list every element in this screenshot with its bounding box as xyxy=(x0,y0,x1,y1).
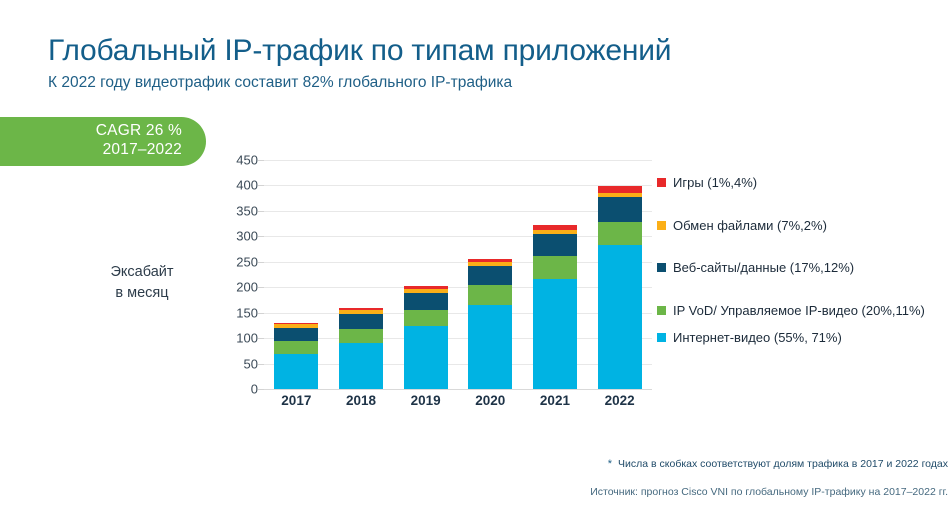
x-axis-tick-2018: 2018 xyxy=(339,393,383,408)
x-axis-tick-2017: 2017 xyxy=(274,393,318,408)
x-axis-tick-labels: 201720182019202020212022 xyxy=(264,393,652,408)
bar-group-2021[interactable] xyxy=(533,160,577,389)
y-axis-tick-250: 250 xyxy=(236,254,258,269)
x-axis-tick-2022: 2022 xyxy=(598,393,642,408)
page-subtitle: К 2022 году видеотрафик составит 82% гло… xyxy=(48,74,908,93)
y-axis-tick-300: 300 xyxy=(236,229,258,244)
bar-segment-2021-IP VoD/ Управляемое IP-видео[interactable] xyxy=(533,256,577,279)
legend-label-2: Веб-сайты/данные (17%,12%) xyxy=(673,259,854,277)
footnote-asterisk: * xyxy=(608,458,612,471)
bar-segment-2020-Веб-сайты/данные[interactable] xyxy=(468,266,512,284)
plot-area xyxy=(264,160,652,389)
legend-item-1[interactable]: Обмен файлами (7%,2%) xyxy=(657,217,947,235)
bar-segment-2021-Веб-сайты/данные[interactable] xyxy=(533,234,577,255)
x-axis-tick-2019: 2019 xyxy=(404,393,448,408)
y-axis-tick-450: 450 xyxy=(236,153,258,168)
legend-swatch-icon-1 xyxy=(657,221,666,230)
legend-swatch-icon-2 xyxy=(657,263,666,272)
bar-segment-2019-Интернет-видео[interactable] xyxy=(404,326,448,389)
bar-group-2022[interactable] xyxy=(598,160,642,389)
bar-segment-2022-IP VoD/ Управляемое IP-видео[interactable] xyxy=(598,222,642,245)
y-axis-tick-100: 100 xyxy=(236,331,258,346)
y-axis-tick-350: 350 xyxy=(236,203,258,218)
bar-series-container xyxy=(264,160,652,389)
legend-swatch-icon-4 xyxy=(657,333,666,342)
legend-item-0[interactable]: Игры (1%,4%) xyxy=(657,174,947,192)
legend-item-2[interactable]: Веб-сайты/данные (17%,12%) xyxy=(657,259,947,277)
cagr-rate-label: CAGR 26 % xyxy=(0,122,182,141)
x-axis-tick-2021: 2021 xyxy=(533,393,577,408)
y-axis-title-line1: Эксабайт xyxy=(78,262,206,283)
y-axis-tick-50: 50 xyxy=(244,356,258,371)
bar-group-2017[interactable] xyxy=(274,160,318,389)
bar-segment-2018-Интернет-видео[interactable] xyxy=(339,343,383,389)
bar-segment-2020-Интернет-видео[interactable] xyxy=(468,305,512,389)
bar-group-2020[interactable] xyxy=(468,160,512,389)
footnote-text: Числа в скобках соответствуют долям траф… xyxy=(618,458,948,472)
page-title: Глобальный IP-трафик по типам приложений xyxy=(48,34,908,68)
bar-segment-2017-Веб-сайты/данные[interactable] xyxy=(274,328,318,341)
bar-segment-2022-Интернет-видео[interactable] xyxy=(598,245,642,389)
bar-segment-2022-Веб-сайты/данные[interactable] xyxy=(598,197,642,221)
tickmark-0 xyxy=(258,389,264,390)
slide-header: Глобальный IP-трафик по типам приложений… xyxy=(48,34,908,92)
legend-swatch-icon-3 xyxy=(657,306,666,315)
legend-item-4[interactable]: Интернет-видео (55%, 71%) xyxy=(657,329,947,347)
legend-swatch-icon-0 xyxy=(657,178,666,187)
chart-legend: Игры (1%,4%)Обмен файлами (7%,2%)Веб-сай… xyxy=(657,174,947,372)
cagr-badge: CAGR 26 % 2017–2022 xyxy=(0,117,206,166)
legend-label-1: Обмен файлами (7%,2%) xyxy=(673,217,827,235)
legend-label-4: Интернет-видео (55%, 71%) xyxy=(673,329,842,347)
y-axis-tick-400: 400 xyxy=(236,178,258,193)
source-text: Источник: прогноз Cisco VNI по глобально… xyxy=(576,486,948,500)
bar-segment-2019-Веб-сайты/данные[interactable] xyxy=(404,293,448,310)
cagr-period-label: 2017–2022 xyxy=(0,141,182,160)
legend-label-3: IP VoD/ Управляемое IP-видео (20%,11%) xyxy=(673,302,925,320)
y-axis-title: Эксабайт в месяц xyxy=(78,262,206,304)
bar-segment-2017-IP VoD/ Управляемое IP-видео[interactable] xyxy=(274,341,318,354)
footnote-row: * Числа в скобках соответствуют долям тр… xyxy=(576,458,948,472)
bar-segment-2017-Интернет-видео[interactable] xyxy=(274,354,318,389)
legend-item-3[interactable]: IP VoD/ Управляемое IP-видео (20%,11%) xyxy=(657,302,947,320)
bar-segment-2018-Веб-сайты/данные[interactable] xyxy=(339,314,383,329)
legend-label-0: Игры (1%,4%) xyxy=(673,174,757,192)
y-axis-tick-0: 0 xyxy=(251,382,258,397)
bar-segment-2022-Игры[interactable] xyxy=(598,186,642,193)
bar-group-2018[interactable] xyxy=(339,160,383,389)
y-axis-title-line2: в месяц xyxy=(78,283,206,304)
stacked-bar-chart: 450400350300250200150100500 201720182019… xyxy=(212,160,652,422)
y-axis-tick-200: 200 xyxy=(236,280,258,295)
bar-segment-2021-Интернет-видео[interactable] xyxy=(533,279,577,389)
gridline-0 xyxy=(264,389,652,390)
bar-segment-2020-IP VoD/ Управляемое IP-видео[interactable] xyxy=(468,285,512,305)
footnotes: * Числа в скобках соответствуют долям тр… xyxy=(576,458,948,499)
y-axis-tick-150: 150 xyxy=(236,305,258,320)
y-axis-tick-labels: 450400350300250200150100500 xyxy=(212,160,258,389)
bar-segment-2019-IP VoD/ Управляемое IP-видео[interactable] xyxy=(404,310,448,326)
x-axis-tick-2020: 2020 xyxy=(468,393,512,408)
bar-group-2019[interactable] xyxy=(404,160,448,389)
bar-segment-2018-IP VoD/ Управляемое IP-видео[interactable] xyxy=(339,329,383,343)
